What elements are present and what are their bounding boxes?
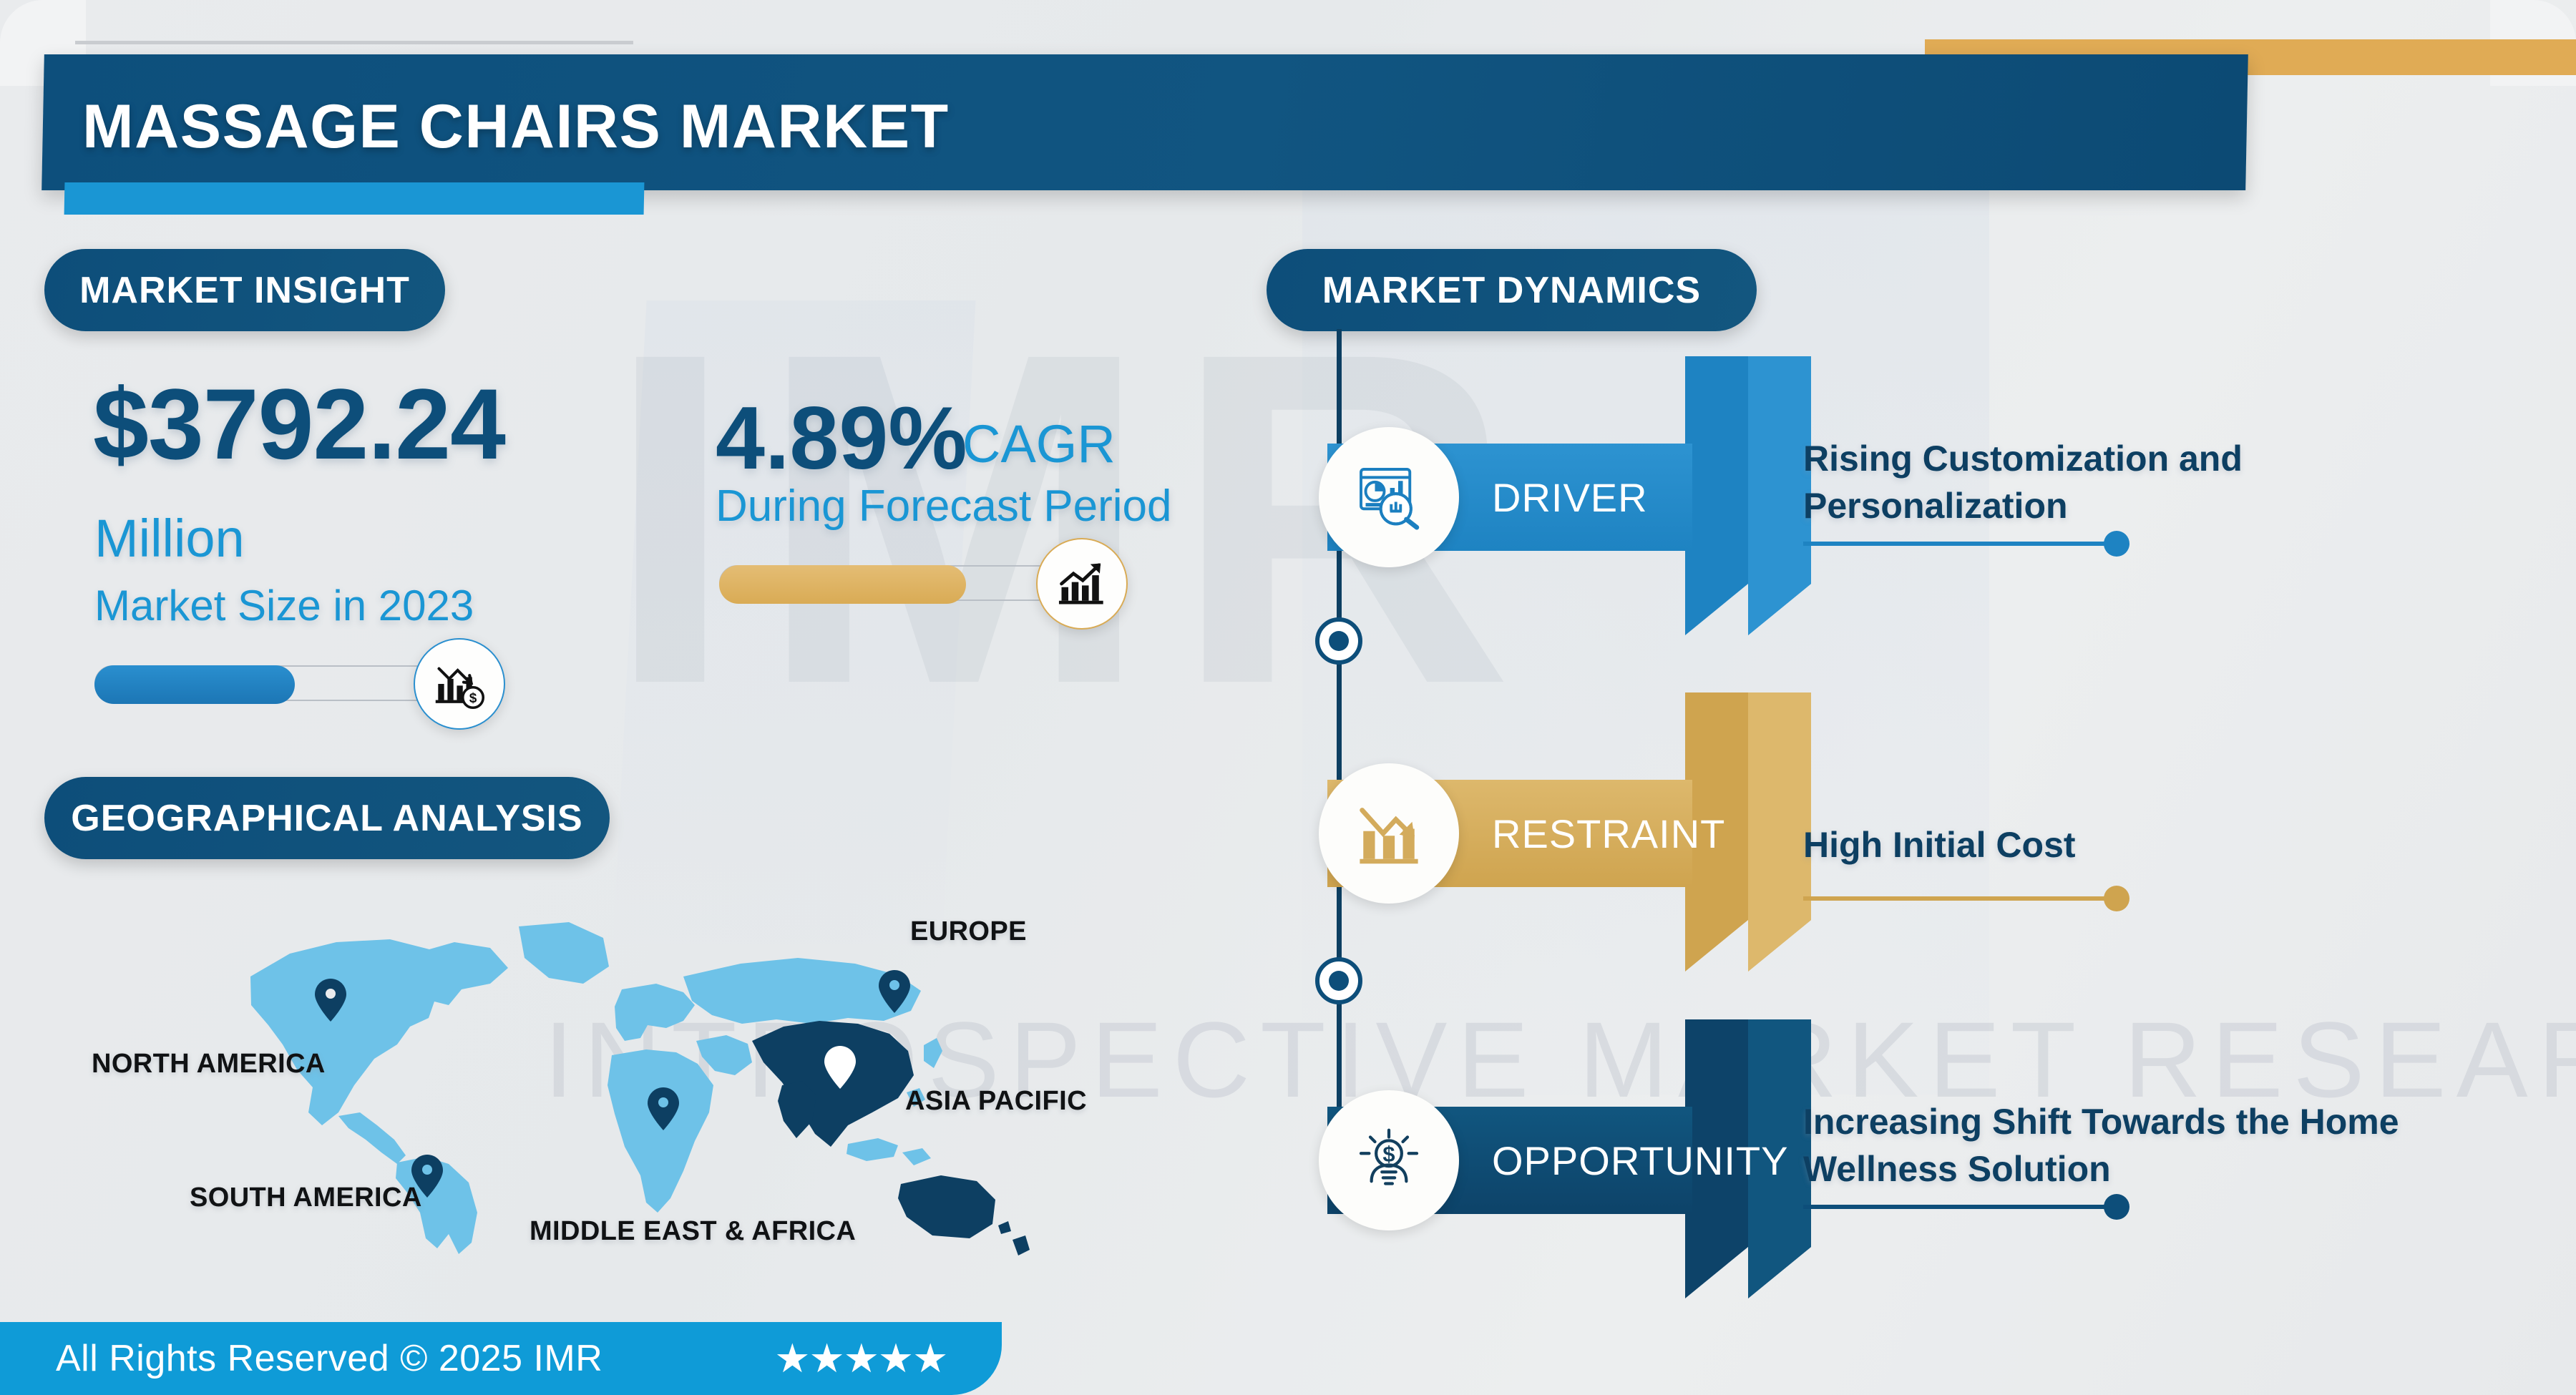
cagr-progress-fill	[719, 565, 966, 604]
restraint-description-line1: High Initial Cost	[1803, 821, 2076, 868]
driver-connector-line	[1803, 542, 2118, 546]
opportunity-endpoint-dot	[2104, 1194, 2129, 1220]
map-pin-north-america	[315, 979, 346, 1022]
restraint-endpoint-dot	[2104, 886, 2129, 911]
analytics-search-icon	[1319, 427, 1459, 567]
growth-chart-arrow-icon	[1036, 538, 1128, 630]
copyright-text: All Rights Reserved © 2025 IMR	[56, 1337, 602, 1380]
dynamics-row-restraint: RESTRAINT	[1327, 780, 1692, 887]
header-underline-bar	[64, 182, 645, 215]
driver-endpoint-dot	[2104, 531, 2129, 557]
opportunity-description-line2: Wellness Solution	[1803, 1145, 2399, 1193]
section-label-geographical-analysis: GEOGRAPHICAL ANALYSIS	[44, 777, 610, 859]
market-size-unit: Million	[94, 508, 245, 569]
region-label-south-america: SOUTH AMERICA	[190, 1183, 422, 1213]
driver-description-line2: Personalization	[1803, 482, 2243, 529]
opportunity-description: Increasing Shift Towards the Home Wellne…	[1803, 1098, 2399, 1193]
map-pin-europe	[879, 970, 910, 1013]
cagr-label: CAGR	[962, 413, 1116, 474]
market-size-caption: Market Size in 2023	[94, 581, 474, 630]
opportunity-connector-line	[1803, 1205, 2118, 1209]
dynamics-row-driver: DRIVER	[1327, 444, 1692, 551]
opportunity-description-line1: Increasing Shift Towards the Home	[1803, 1098, 2399, 1145]
svg-text:$: $	[1382, 1142, 1395, 1167]
cagr-caption: During Forecast Period	[716, 481, 1172, 532]
region-label-middle-east-africa: MIDDLE EAST & AFRICA	[530, 1216, 856, 1247]
declining-bar-chart-icon	[1319, 763, 1459, 904]
region-label-asia-pacific: ASIA PACIFIC	[905, 1086, 1087, 1117]
world-map	[182, 898, 1077, 1270]
restraint-description: High Initial Cost	[1803, 821, 2076, 868]
market-size-value: $3792.24	[93, 366, 505, 482]
map-pin-asia-pacific	[824, 1046, 856, 1089]
region-label-north-america: NORTH AMERICA	[92, 1049, 326, 1080]
lightbulb-dollar-icon: $	[1319, 1090, 1459, 1230]
region-label-europe: EUROPE	[910, 916, 1027, 947]
market-size-progress-fill	[94, 665, 295, 704]
svg-text:$: $	[469, 691, 477, 706]
section-label-market-insight: MARKET INSIGHT	[44, 249, 445, 331]
cagr-value: 4.89%	[716, 388, 967, 489]
section-label-market-dynamics: MARKET DYNAMICS	[1267, 249, 1757, 331]
footer-bar: All Rights Reserved © 2025 IMR ★★★★★	[0, 1322, 1002, 1395]
restraint-connector-line	[1803, 896, 2118, 901]
driver-description-line1: Rising Customization and	[1803, 435, 2243, 482]
rating-stars: ★★★★★	[774, 1335, 947, 1382]
bar-chart-dollar-icon: $	[414, 638, 505, 730]
infographic-canvas: IMR INTROSPECTIVE MARKET RESEARCH MASSAG…	[0, 0, 2576, 1395]
timeline-node-1	[1315, 617, 1362, 665]
dynamics-row-opportunity: OPPORTUNITY $	[1327, 1107, 1692, 1214]
timeline-node-2	[1315, 957, 1362, 1004]
header-thin-rule	[75, 41, 633, 44]
driver-chevron-arrow	[1685, 356, 1814, 635]
page-title: MASSAGE CHAIRS MARKET	[82, 92, 950, 162]
driver-description: Rising Customization and Personalization	[1803, 435, 2243, 529]
map-pin-middle-east-africa	[648, 1087, 679, 1130]
